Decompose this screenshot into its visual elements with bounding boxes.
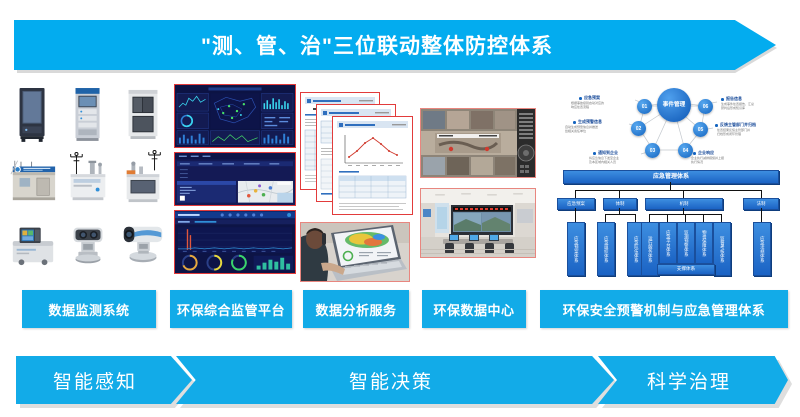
- process-flow-bar: 智能感知 智能决策 科学治理: [0, 352, 800, 410]
- hub-node-05: 05: [693, 122, 708, 137]
- dashboard-screenshot-trend: [174, 210, 296, 274]
- tree-line-b4: [761, 190, 762, 198]
- tree-line-b3-c3: [685, 214, 686, 222]
- label-box-supervision-platform[interactable]: 环保综合监管平台: [170, 290, 292, 328]
- equipment-photo-analyzer-rack: [63, 84, 113, 144]
- banner-arrow-shape: "测、管、治"三位联动整体防控体系: [14, 20, 776, 70]
- flow-step-perception[interactable]: 智能感知: [16, 356, 192, 404]
- label-box-data-analysis[interactable]: 数据分析服务: [303, 290, 409, 328]
- hub-desc-02: 自动生成预警信息并推送 给相关责任单位: [565, 126, 629, 134]
- hub-bullet-06: [721, 98, 724, 101]
- flow-step-decision[interactable]: 智能决策: [176, 356, 614, 404]
- column-data-center: [420, 84, 536, 258]
- report-document-3: [332, 116, 413, 215]
- hub-desc-06: 生成事件处置报告，汇总 研判后形成知识库: [721, 103, 789, 111]
- hub-bullet-02: [573, 121, 576, 124]
- hub-bullet-03: [593, 152, 596, 155]
- tree-leaf-3-2: 应急平台体系: [659, 222, 677, 264]
- dashboard-screenshot-list-map: [174, 152, 296, 206]
- label-text-supervision-platform: 环保综合监管平台: [177, 300, 285, 319]
- tree-line-b2-bus: [605, 214, 635, 215]
- tree-leaf-3-3: 监测预警体系: [677, 222, 695, 264]
- column-monitoring-equipment: [8, 84, 168, 274]
- tree-line-b2-c2: [635, 214, 636, 222]
- page-title: "测、管、治"三位联动整体防控体系: [201, 30, 553, 60]
- tree-line-b3-c4: [703, 214, 704, 222]
- photo-cctv-video-wall: [420, 108, 536, 178]
- hub-bullet-04: [693, 152, 696, 155]
- flow-step-governance[interactable]: 科学治理: [598, 356, 788, 404]
- tree-line-b1: [575, 190, 576, 198]
- tree-line-root-drop: [670, 182, 671, 190]
- equipment-photo-cabinet-dark: [8, 84, 58, 144]
- tree-line-root-bus: [575, 190, 761, 191]
- equipment-photo-sampler-cabinet: [118, 84, 168, 144]
- dashboard-screenshot-overview: [174, 84, 296, 148]
- hub-bullet-01: [579, 97, 582, 100]
- tree-line-b3-c5: [721, 214, 722, 222]
- tree-leaf-3-4: 物资保障体系: [695, 222, 713, 264]
- hub-node-02: 02: [631, 121, 646, 136]
- label-text-data-center: 环保数据中心: [433, 300, 514, 319]
- photo-analyst-laptop: [300, 222, 410, 282]
- tree-leaf-2-1: 应急组织体系: [597, 222, 615, 276]
- flow-label-decision: 智能决策: [349, 367, 433, 394]
- hub-node-06: 06: [698, 99, 713, 114]
- tree-leaf-1-1: 应急预案体系: [567, 222, 585, 276]
- content-area: 事件管理 01 02 03 04 05 06 应急预案 根据事故级别启动对应的: [0, 84, 800, 284]
- tree-line-b3-c2: [667, 214, 668, 222]
- hub-desc-05: 处置结果反馈主管部门并 归档形成闭环管理: [717, 129, 787, 137]
- label-text-data-analysis: 数据分析服务: [315, 300, 396, 319]
- equipment-photo-thermal-camera: [118, 214, 168, 274]
- tree-leaf-4-1: 应急法规体系: [753, 222, 771, 276]
- hub-node-03: 03: [645, 143, 660, 158]
- tree-branch-3: 机制: [645, 198, 723, 210]
- equipment-photo-ptz-camera: [63, 214, 113, 274]
- equipment-photo-micro-station: [63, 149, 113, 209]
- flow-label-perception: 智能感知: [53, 367, 137, 394]
- equipment-photo-station-house: [8, 149, 58, 209]
- hub-center-label: 事件管理: [663, 102, 685, 108]
- tree-leaf-3-5: 监督考核体系: [713, 222, 731, 276]
- column-data-analysis: [300, 84, 415, 282]
- tree-line-b2-c1: [605, 214, 606, 222]
- hub-desc-03: 将应急信息下发至企业 及本区域内相关人员: [589, 157, 649, 165]
- column-supervision-platform: [174, 84, 296, 274]
- equipment-photo-portable-analyzer: [8, 214, 58, 274]
- tree-branch-1: 应急预案: [557, 198, 595, 210]
- category-label-row: 数据监测系统 环保综合监管平台 数据分析服务 环保数据中心 环保安全预警机制与应…: [0, 290, 800, 328]
- hub-node-01: 01: [637, 99, 652, 114]
- event-management-hub-diagram: 事件管理 01 02 03 04 05 06 应急预案 根据事故级别启动对应的: [545, 84, 795, 172]
- title-banner: "测、管、治"三位联动整体防控体系: [0, 18, 800, 80]
- label-box-monitoring-equipment[interactable]: 数据监测系统: [22, 290, 156, 328]
- label-box-data-center[interactable]: 环保数据中心: [422, 290, 526, 328]
- label-text-monitoring-equipment: 数据监测系统: [48, 300, 129, 319]
- hub-center-node: 事件管理: [657, 88, 691, 122]
- emergency-org-tree: 应急管理体系 应急预案 体制 机制 法制 应急预案体系: [553, 170, 791, 282]
- report-documents-stack: [300, 92, 412, 214]
- label-box-emergency-system[interactable]: 环保安全预警机制与应急管理体系: [540, 290, 788, 328]
- tree-line-b1-child: [575, 208, 576, 222]
- tree-line-b2: [619, 190, 620, 198]
- flow-label-governance: 科学治理: [647, 367, 731, 394]
- hub-desc-01: 根据事故级别启动对应的 响应处置流程: [571, 102, 633, 110]
- tree-line-b3-c1: [649, 214, 650, 222]
- hub-desc-04: 企业执行减排措施并上报 执行情况: [691, 157, 753, 165]
- tree-branch-2: 体制: [603, 198, 637, 210]
- tree-root: 应急管理体系: [563, 170, 779, 184]
- photo-command-center-room: [420, 188, 536, 258]
- equipment-photo-weather-monitor: [118, 149, 168, 209]
- tree-support-system-note: 支撑体系: [657, 264, 715, 275]
- tree-line-b3: [683, 190, 684, 198]
- label-text-emergency-system: 环保安全预警机制与应急管理体系: [563, 300, 766, 319]
- hub-bullet-05: [715, 124, 718, 127]
- tree-line-b4-child: [761, 208, 762, 222]
- equipment-photo-grid: [8, 84, 168, 274]
